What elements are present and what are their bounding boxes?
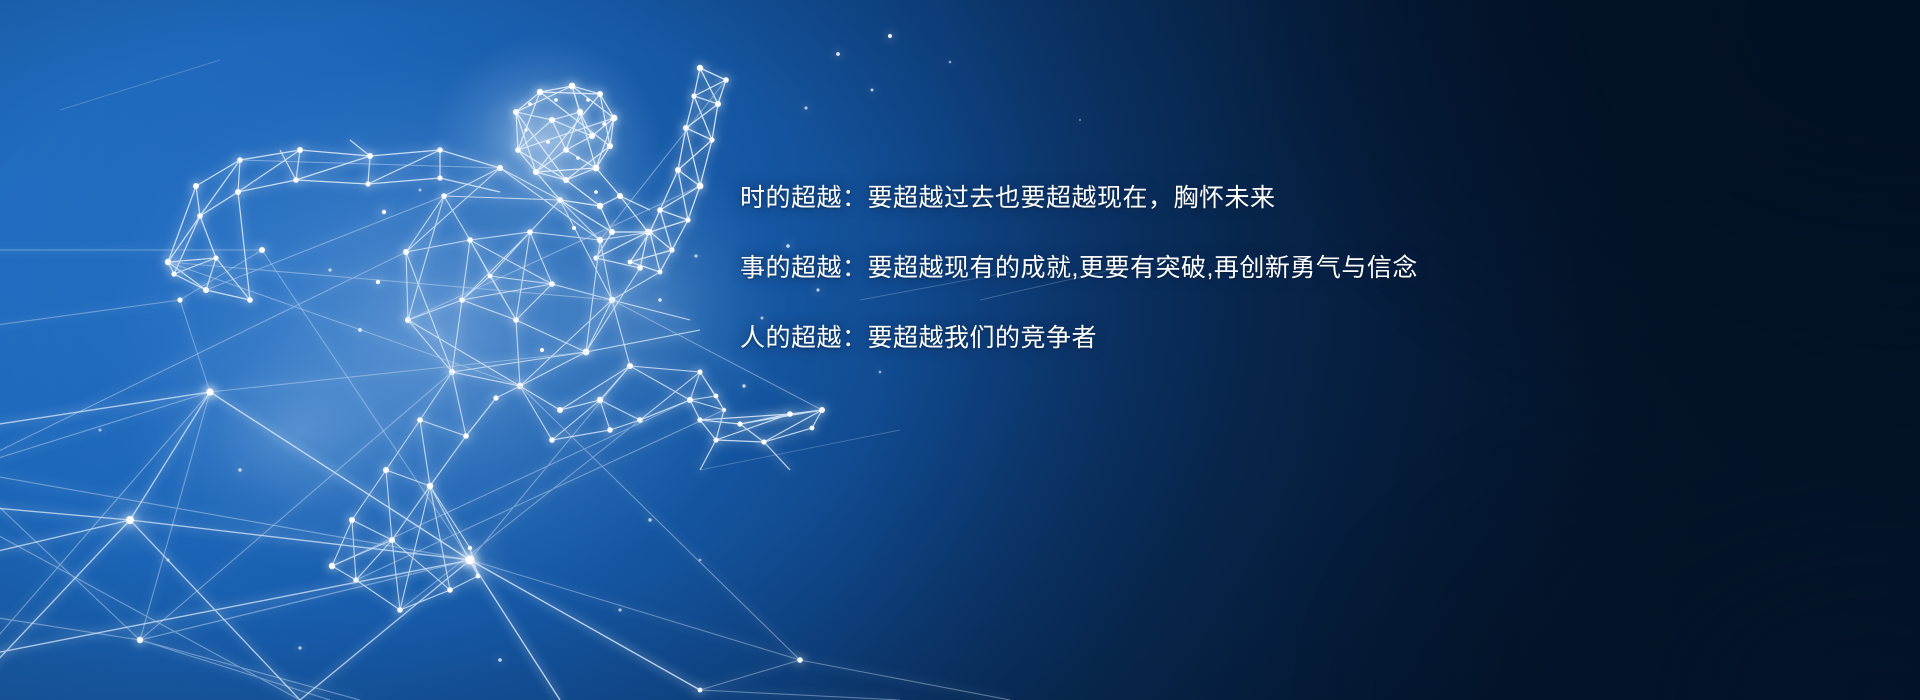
tagline-block: 时的超越：要超越过去也要超越现在，胸怀未来 事的超越：要超越现有的成就,更要有突… <box>740 186 1860 351</box>
tagline-achievement: 事的超越：要超越现有的成就,更要有突破,再创新勇气与信念 <box>740 256 1860 281</box>
tagline-time: 时的超越：要超越过去也要超越现在，胸怀未来 <box>740 186 1860 211</box>
tagline-people: 人的超越：要超越我们的竞争者 <box>740 326 1860 351</box>
hero-banner: 时的超越：要超越过去也要超越现在，胸怀未来 事的超越：要超越现有的成就,更要有突… <box>0 0 1920 700</box>
